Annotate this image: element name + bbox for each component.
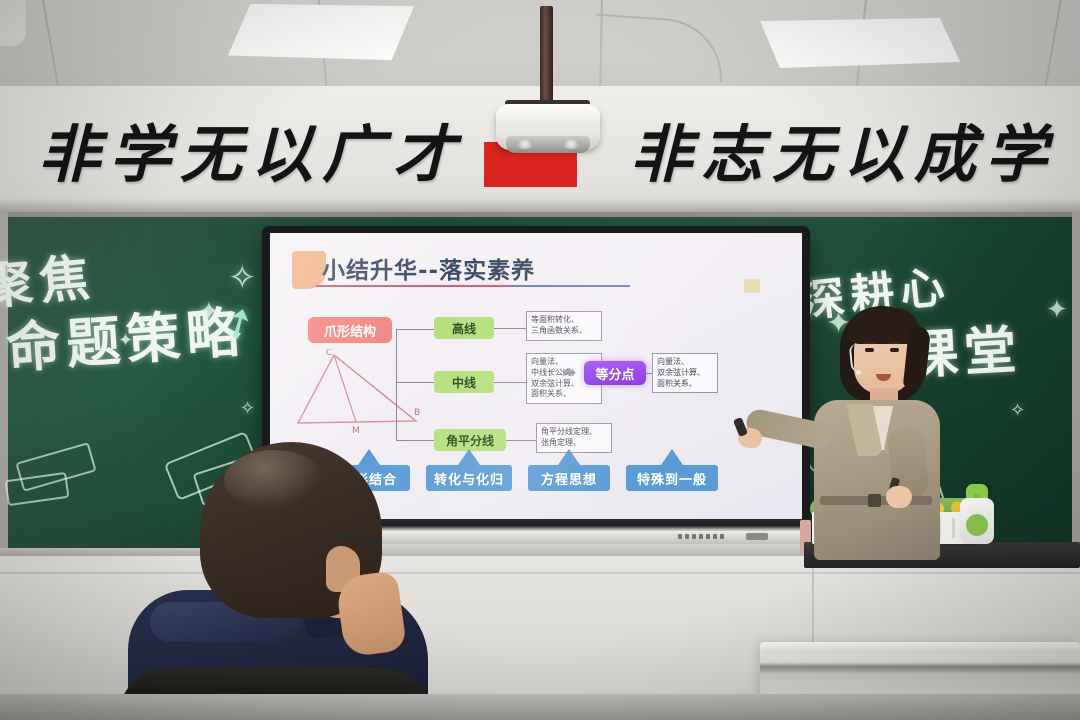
right-arrow-icon: ➡ [562,364,580,382]
connector [396,382,434,383]
svg-text:C: C [326,349,332,358]
teacher-figure [740,300,970,560]
ceiling-light-icon [760,18,960,68]
projector-lens-icon [562,139,580,149]
connector [494,328,526,329]
connector [506,440,536,441]
wall-banner-left-text: 非学无以广才 [38,104,464,194]
branch-box-median: 中线 [434,371,494,393]
classroom-scene: 非学无以广才 非志无以成学 聚焦 命题策略 深耕心 习课堂 ✦ ✧ ✦ ✧ ✦ … [0,0,1080,720]
front-desk-edge [0,694,1080,720]
svg-text:B: B [414,408,420,418]
ceiling-light-icon [228,4,414,60]
whiteboard-control-buttons[interactable] [678,534,724,539]
triangle-svg: C M B [292,349,424,435]
connector [494,382,526,383]
slide-title: 小结升华--落实素养 [322,251,535,285]
bottom-box-3: 方程思想 [528,465,610,491]
student-figure [104,442,454,720]
ceiling-corner-panel [0,0,26,46]
chalk-sparkle-icon: ✧ [1010,400,1025,421]
chalk-sparkle-icon: ✦ [1046,294,1068,325]
connector [396,329,434,330]
svg-text:M: M [352,426,360,435]
diagram-root-box: 爪形结构 [308,317,392,343]
projector-mount-pole [540,6,553,108]
ceiling-seam [42,0,60,92]
chalk-sparkle-icon: ✧ [228,258,257,298]
teacher-eye [865,348,874,352]
podium-top-surface [760,642,1080,654]
chalk-sparkle-icon: ✧ [240,398,255,419]
up-arrow-icon [458,449,480,465]
ceiling-seam [1044,0,1062,88]
slide-title-underline [316,285,630,287]
microphone-capsule-icon [856,370,861,375]
slide-decoration [744,279,760,293]
projector-lens-bar [506,136,590,153]
connector [396,329,397,441]
teacher-eyebrow [864,342,875,344]
teacher-right-hand [886,486,912,508]
ceiling-cable [592,14,726,83]
slide-title-tag-icon [292,251,326,289]
highlight-box-division-point: 等分点 [584,361,646,385]
branch-note-height-line: 等面积转化、 三角函数关系、 [526,311,602,341]
connector [396,440,434,441]
up-arrow-icon [661,449,683,465]
blackboard-frame-right [1072,212,1080,552]
chalk-sparkle-icon: ✦ [118,330,133,351]
highlight-note: 向量法、 双余弦计算、 面积关系、 [652,353,718,393]
wall-banner-right-text: 非志无以成学 [630,104,1056,194]
bottom-box-4: 特殊到一般 [626,465,718,491]
teacher-eye [890,348,899,352]
coat-belt-buckle [868,494,881,507]
student-hair-highlight [224,450,324,510]
branch-box-height-line: 高线 [434,317,494,339]
projector-lens-icon [516,139,534,149]
teacher-eyebrow [889,342,900,344]
triangle-figure: C M B [292,349,424,435]
wall-shadow [0,198,1080,212]
up-arrow-icon [558,449,580,465]
